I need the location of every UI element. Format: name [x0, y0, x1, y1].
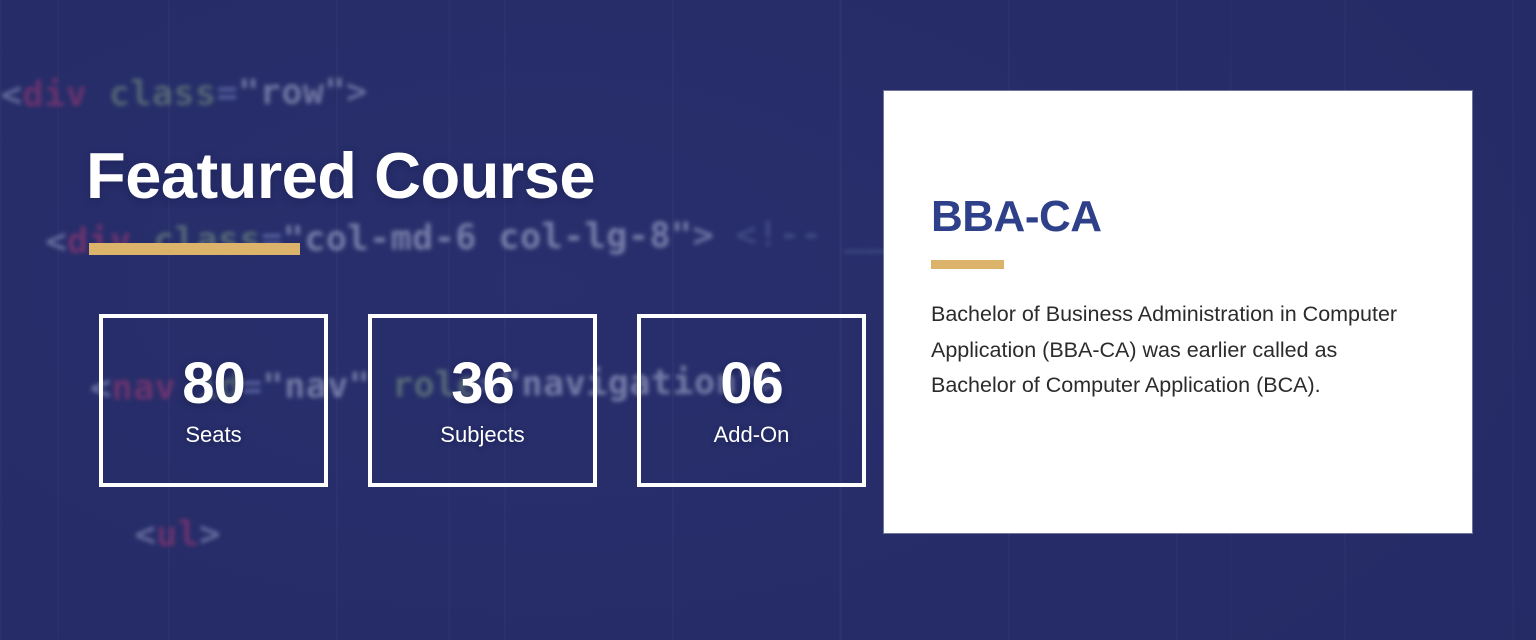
course-card-accent-rule	[931, 260, 1004, 269]
featured-course-section: <div class="row"> <div class="col-md-6 c…	[0, 0, 1536, 640]
title-accent-rule	[89, 243, 300, 255]
stat-box-subjects: 36 Subjects	[368, 314, 597, 487]
stat-label: Subjects	[440, 424, 524, 446]
stat-value: 80	[182, 355, 245, 413]
stat-label: Seats	[185, 424, 241, 446]
stat-box-add-on: 06 Add-On	[637, 314, 866, 487]
stat-value: 36	[451, 355, 514, 413]
stat-box-seats: 80 Seats	[99, 314, 328, 487]
course-card-title: BBA-CA	[931, 195, 1421, 239]
stat-label: Add-On	[714, 424, 790, 446]
stats-row: 80 Seats 36 Subjects 06 Add-On	[99, 314, 866, 487]
course-card-description: Bachelor of Business Administration in C…	[931, 297, 1401, 404]
page-title: Featured Course	[86, 143, 595, 208]
left-content-panel: Featured Course 80 Seats 36 Subjects 06 …	[0, 0, 884, 640]
course-card-content: BBA-CA Bachelor of Business Administrati…	[931, 195, 1421, 404]
stat-value: 06	[720, 355, 783, 413]
course-card[interactable]: BBA-CA Bachelor of Business Administrati…	[884, 91, 1472, 533]
